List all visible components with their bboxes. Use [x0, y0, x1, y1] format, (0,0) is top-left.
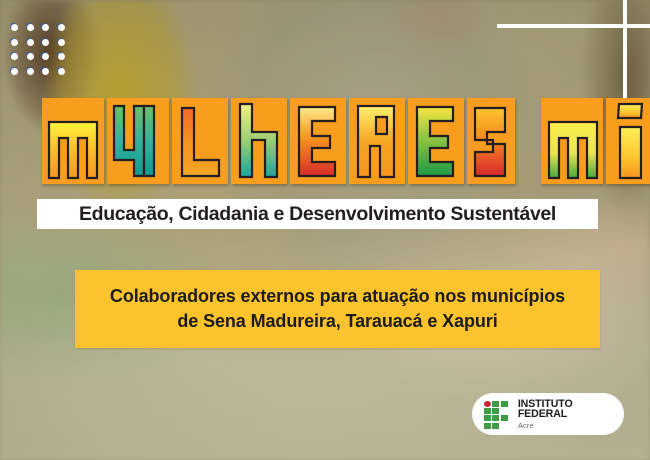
dot: [11, 24, 18, 31]
logo-name: INSTITUTO FEDERAL: [518, 399, 624, 420]
logo-campus: Acre: [518, 422, 624, 430]
background-photo-warm-overlay: [0, 0, 650, 460]
letter-tile-M1: [42, 98, 104, 184]
dot: [58, 39, 65, 46]
callout-line-2: de Sena Madureira, Tarauacá e Xapuri: [177, 309, 497, 334]
logo-cell-empty: [501, 408, 508, 414]
logo-cell: [492, 408, 499, 414]
letter-tile-M2: [541, 98, 603, 184]
dot: [58, 53, 65, 60]
instituto-federal-logo: INSTITUTO FEDERAL Acre: [472, 393, 624, 435]
dot: [27, 53, 34, 60]
dot-grid-decoration: [11, 24, 73, 82]
dot: [27, 39, 34, 46]
callout-box: Colaboradores externos para atuação nos …: [75, 270, 600, 348]
dot: [42, 68, 49, 75]
logo-cell: [501, 401, 508, 407]
dot: [27, 68, 34, 75]
logo-cell: [492, 401, 499, 407]
instituto-federal-logo-text: INSTITUTO FEDERAL Acre: [518, 399, 624, 430]
letter-tile-E1: [290, 98, 346, 184]
subtitle-text: Educação, Cidadania e Desenvolvimento Su…: [79, 203, 556, 226]
logo-cell: [484, 415, 491, 421]
poster-canvas: Educação, Cidadania e Desenvolvimento Su…: [0, 0, 650, 460]
letter-tile-U: [107, 98, 169, 184]
callout-line-1: Colaboradores externos para atuação nos …: [110, 284, 565, 309]
letter-tile-S: [467, 98, 515, 184]
dot: [11, 53, 18, 60]
dot: [11, 39, 18, 46]
letter-tile-L1: [172, 98, 228, 184]
dot: [58, 24, 65, 31]
wordmark-mulheres-mil: [42, 98, 650, 184]
dot: [11, 68, 18, 75]
letter-tile-R: [349, 98, 405, 184]
dot: [58, 68, 65, 75]
logo-cell: [484, 408, 491, 414]
letter-tile-H: [231, 98, 287, 184]
dot: [42, 39, 49, 46]
logo-cell: [501, 415, 508, 421]
logo-cell: [484, 423, 491, 429]
horizontal-rule-decoration: [497, 24, 650, 28]
subtitle-bar: Educação, Cidadania e Desenvolvimento Su…: [37, 199, 598, 229]
dot: [27, 24, 34, 31]
letter-tile-I: [606, 98, 650, 184]
dot: [42, 24, 49, 31]
logo-cell: [492, 423, 499, 429]
logo-cell: [492, 415, 499, 421]
logo-cell-empty: [501, 423, 508, 429]
instituto-federal-mark-icon: [484, 401, 509, 428]
logo-cell-red: [484, 401, 491, 407]
dot: [42, 53, 49, 60]
letter-tile-E2: [408, 98, 464, 184]
